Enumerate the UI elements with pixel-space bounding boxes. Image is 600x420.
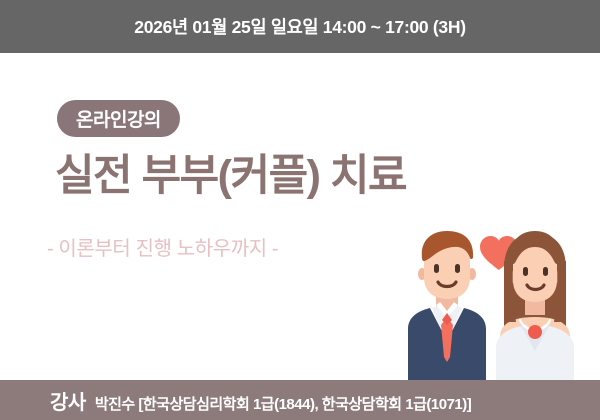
schedule-text: 2026년 01월 25일 일요일 14:00 ~ 17:00 (3H) [134,14,465,39]
instructor-name-and-credentials: 박진수 [한국상담심리학회 1급(1844), 한국상담학회 1급(1071)] [95,393,471,414]
bride-figure [496,231,574,380]
instructor-bar: 강사 박진수 [한국상담심리학회 1급(1844), 한국상담학회 1급(107… [0,380,600,420]
course-type-badge: 온라인강의 [57,100,180,137]
wedding-couple-illustration [392,225,600,380]
course-subtitle: - 이론부터 진행 노하우까지 - [47,232,278,261]
groom-figure [408,231,486,380]
course-type-badge-label: 온라인강의 [76,105,161,132]
instructor-bar-inner: 강사 박진수 [한국상담심리학회 1급(1844), 한국상담학회 1급(107… [0,386,471,415]
course-title: 실전 부부(커플) 치료 [55,152,406,201]
schedule-bar: 2026년 01월 25일 일요일 14:00 ~ 17:00 (3H) [0,0,600,53]
course-promo-poster: 2026년 01월 25일 일요일 14:00 ~ 17:00 (3H) 온라인… [0,0,600,420]
instructor-label: 강사 [50,386,86,415]
